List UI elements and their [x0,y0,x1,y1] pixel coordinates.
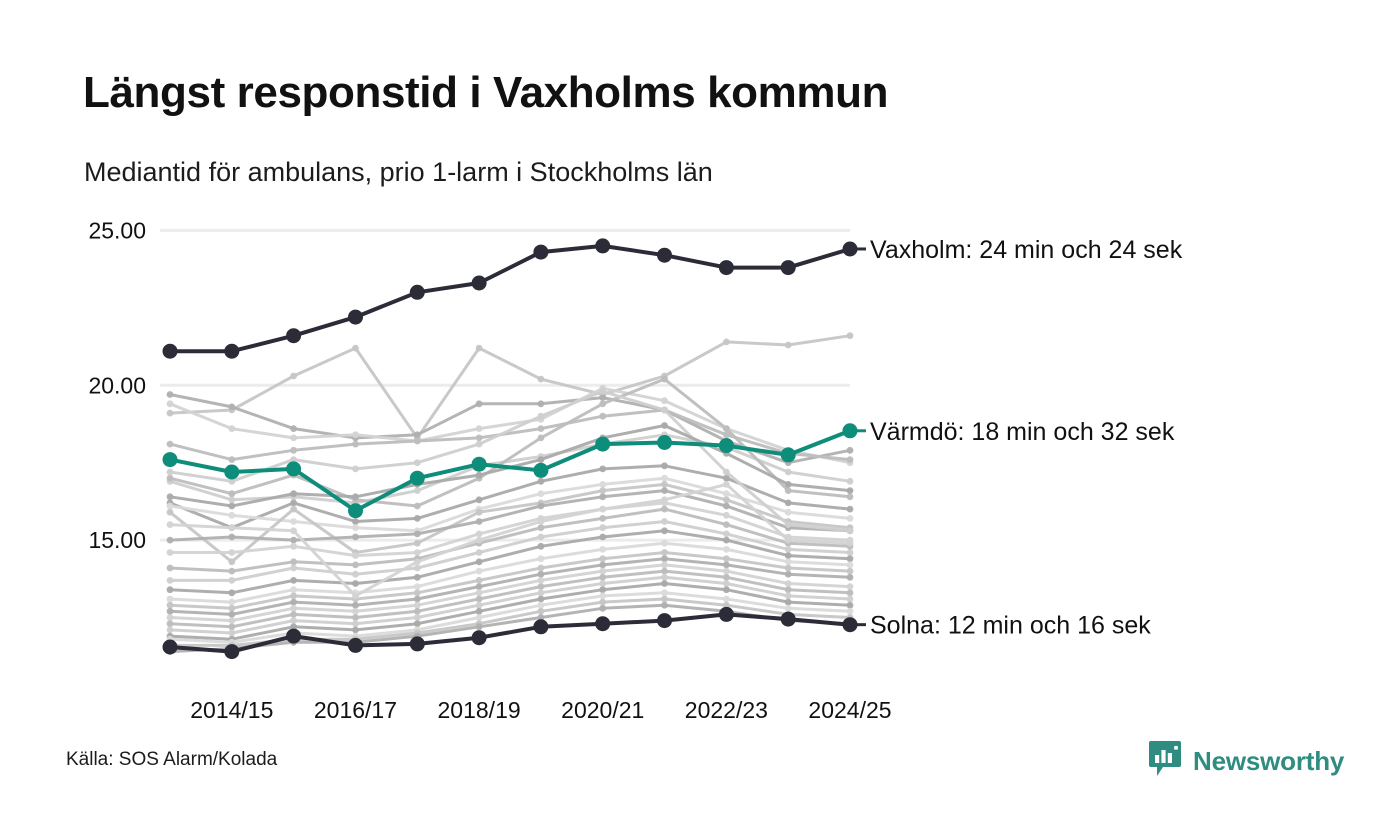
series-point [785,546,792,553]
series-point [476,623,483,630]
series-point [224,465,239,480]
series-point [538,555,545,562]
series-point [785,552,792,559]
series-point [847,608,854,615]
series-point [723,425,730,432]
series-point [410,471,425,486]
series-point [661,549,668,556]
series-point [476,608,483,615]
series-point [657,613,672,628]
annotation-label: Solna: 12 min och 16 sek [870,612,1151,640]
series-point [661,602,668,609]
series-point [785,481,792,488]
series-point [167,614,174,621]
series-point [847,515,854,522]
newsworthy-bubble-icon [1148,740,1182,783]
series-point [290,373,297,380]
series-point [352,431,359,438]
series-point [785,487,792,494]
series-point [661,407,668,414]
series-point [661,496,668,503]
series-point [290,593,297,600]
series-point [781,260,796,275]
series-point [167,509,174,516]
series-point [414,438,421,445]
series-point [167,441,174,448]
series-point [538,413,545,420]
series-point [661,518,668,525]
series-point [785,571,792,578]
series-point [538,608,545,615]
series-point [538,425,545,432]
annotation-label: Vaxholm: 24 min och 24 sek [870,236,1183,264]
series-point [847,568,854,575]
series-point [661,527,668,534]
series-point [290,611,297,618]
series-point [599,493,606,500]
series-point [290,518,297,525]
series-point [476,425,483,432]
series-point [228,456,235,463]
series-point [723,481,730,488]
series-point [847,555,854,562]
gridline-group [160,230,850,540]
series-point [167,577,174,584]
x-tick-label: 2022/23 [685,697,768,723]
series-point [847,487,854,494]
series-point [599,506,606,513]
series-point [414,602,421,609]
series-point [785,580,792,587]
series-point [290,558,297,565]
series-point [163,344,178,359]
series-point [476,472,483,479]
series-point [847,506,854,513]
series-point [723,574,730,581]
series-point [414,487,421,494]
series-point [723,339,730,346]
series-point [476,602,483,609]
series-point [476,531,483,538]
series-point [599,562,606,569]
series-point [847,562,854,569]
series-point [476,577,483,584]
series-point [286,328,301,343]
series-point [163,452,178,467]
series-point [224,344,239,359]
series-point [661,580,668,587]
series-point [785,605,792,612]
series-point [723,586,730,593]
series-point [352,562,359,569]
series-point [224,644,239,659]
series-point [352,614,359,621]
series-point [723,596,730,603]
series-point [290,447,297,454]
series-point [847,540,854,547]
series-point [228,496,235,503]
series-point [414,558,421,565]
series-point [533,619,548,634]
series-point [723,546,730,553]
series-point [352,466,359,473]
series-point [167,400,174,407]
x-tick-label: 2018/19 [438,697,521,723]
series-point [352,627,359,634]
series-point [228,617,235,624]
series-point [785,342,792,349]
series-point [599,400,606,407]
series-point [538,524,545,531]
series-point [290,577,297,584]
series-point [533,245,548,260]
series-point [414,583,421,590]
series-point [414,589,421,596]
series-point [476,614,483,621]
series-point [785,586,792,593]
series-point [723,512,730,519]
series-point [785,509,792,516]
annotation-label: Värmdö: 18 min och 32 sek [870,418,1175,446]
series-point [286,461,301,476]
series-point [352,493,359,500]
series-point [352,552,359,559]
series-point [228,611,235,618]
series-point [476,441,483,448]
series-point [847,583,854,590]
series-point [472,457,487,472]
series-point [538,518,545,525]
series-point [352,518,359,525]
series-point [599,555,606,562]
series-point [847,332,854,339]
series-point [228,524,235,531]
series-point [348,638,363,653]
series-point [352,620,359,627]
series-point [167,620,174,627]
series-point [538,571,545,578]
series-point [348,503,363,518]
series-point [723,537,730,544]
series-point [228,503,235,510]
series-point [414,614,421,621]
series-point [167,549,174,556]
series-point [348,310,363,325]
series-point [595,437,610,452]
series-point [228,490,235,497]
series-point [167,608,174,615]
series-point [472,630,487,645]
series-point [352,524,359,531]
series-point [538,435,545,442]
series-point [595,616,610,631]
series-point [228,577,235,584]
series-point [167,586,174,593]
series-point [476,589,483,596]
series-point [847,549,854,556]
series-point [167,521,174,528]
series-point [414,540,421,547]
series-point [476,400,483,407]
series-point [290,490,297,497]
chart-page: Längst responstid i Vaxholms kommun Medi… [0,0,1400,840]
series-point [599,574,606,581]
series-point [599,599,606,606]
series-point [290,506,297,513]
series-point [538,543,545,550]
series-point [538,400,545,407]
series-point [538,503,545,510]
series-point [723,580,730,587]
source-note: Källa: SOS Alarm/Kolada [66,749,277,771]
series-point [599,546,606,553]
series-point [414,574,421,581]
series-point [476,496,483,503]
y-tick-label: 20.00 [88,372,146,398]
series-point [538,490,545,497]
series-point [599,481,606,488]
series-point [538,596,545,603]
series-point [723,562,730,569]
series-point [352,571,359,578]
series-point [414,620,421,627]
series-point [599,394,606,401]
series-point [538,577,545,584]
background-series-group [167,332,854,655]
series-point [661,562,668,569]
series-point [847,478,854,485]
series-point [661,589,668,596]
series-point [781,447,796,462]
series-point [599,593,606,600]
series-point [414,608,421,615]
series-point [352,608,359,615]
series-point [228,549,235,556]
x-tick-label: 2014/15 [190,697,273,723]
series-point [414,431,421,438]
series-point [599,580,606,587]
series-point [167,565,174,572]
x-axis-tick-labels: 2014/152016/172018/192020/212022/232024/… [190,697,891,723]
series-point [599,413,606,420]
y-tick-label: 15.00 [88,527,146,553]
series-point [785,521,792,528]
series-point [476,537,483,544]
series-point [661,481,668,488]
series-point [661,376,668,383]
series-point [719,438,734,453]
series-point [599,487,606,494]
series-point [290,425,297,432]
series-point [167,537,174,544]
series-point [410,636,425,651]
series-point [290,527,297,534]
series-point [599,605,606,612]
series-point [538,456,545,463]
series-point [290,586,297,593]
series-point [414,549,421,556]
series-point [167,627,174,634]
series-point [167,602,174,609]
series-point [290,599,297,606]
series-point [352,534,359,541]
series-point [599,388,606,395]
series-point [352,580,359,587]
series-point [661,574,668,581]
series-point [228,599,235,606]
series-point [781,612,796,627]
series-point [352,593,359,600]
series-point [476,558,483,565]
series-point [228,558,235,565]
series-point [290,617,297,624]
series-point [290,543,297,550]
series-point [785,537,792,544]
series-point [228,534,235,541]
series-point [723,490,730,497]
series-point [661,555,668,562]
series-point [595,238,610,253]
series-point [661,596,668,603]
series-point [723,555,730,562]
series-point [286,629,301,644]
series-point [538,478,545,485]
series-point [847,527,854,534]
y-tick-label: 25.00 [88,217,146,243]
series-point [723,531,730,538]
series-point [657,435,672,450]
series-point [167,410,174,417]
x-tick-label: 2024/25 [808,697,891,723]
x-tick-label: 2016/17 [314,697,397,723]
series-point [657,248,672,263]
series-point [847,596,854,603]
series-point [599,568,606,575]
series-point [785,565,792,572]
series-point [723,521,730,528]
series-point [290,500,297,507]
series-point [661,475,668,482]
series-point [719,260,734,275]
series-point [167,493,174,500]
series-point [719,607,734,622]
series-point [533,463,548,478]
series-point [538,589,545,596]
series-point [414,515,421,522]
series-point [847,589,854,596]
series-point [661,422,668,429]
series-point [847,602,854,609]
series-point [661,462,668,469]
series-point [476,596,483,603]
series-point [167,596,174,603]
newsworthy-logo[interactable]: Newsworthy [1148,740,1344,783]
series-point [414,531,421,538]
series-point [414,565,421,572]
series-point [538,376,545,383]
series-point [228,623,235,630]
series-point [163,640,178,655]
y-axis-tick-labels: 15.0020.0025.00 [88,217,146,553]
series-point [290,537,297,544]
series-point [785,599,792,606]
series-point [723,568,730,575]
series-point [352,441,359,448]
series-point [785,593,792,600]
series-point [785,558,792,565]
series-point [476,583,483,590]
series-point [723,503,730,510]
series-point [414,503,421,510]
series-point [847,456,854,463]
series-point [414,596,421,603]
series-point [167,475,174,482]
series-point [352,345,359,352]
series-point [290,565,297,572]
series-point [476,509,483,516]
series-point [723,469,730,476]
series-point [228,589,235,596]
series-point [661,568,668,575]
series-point [538,565,545,572]
series-point [661,506,668,513]
series-point [476,435,483,442]
series-point [476,518,483,525]
series-point [476,549,483,556]
series-point [476,568,483,575]
series-point [167,391,174,398]
series-point [599,586,606,593]
series-point [785,500,792,507]
series-point [661,540,668,547]
series-annotation-group: Vaxholm: 24 min och 24 sekVärmdö: 18 min… [854,236,1183,640]
series-point [476,345,483,352]
series-point [538,534,545,541]
series-point [290,435,297,442]
series-point [410,285,425,300]
series-point [352,602,359,609]
series-point [599,534,606,541]
series-point [661,487,668,494]
series-point [538,583,545,590]
series-point [538,602,545,609]
series-point [290,605,297,612]
newsworthy-wordmark: Newsworthy [1193,746,1344,777]
series-point [228,404,235,411]
series-point [847,493,854,500]
series-point [228,512,235,519]
series-point [472,276,487,291]
series-point [599,524,606,531]
series-point [167,469,174,476]
x-tick-label: 2020/21 [561,697,644,723]
series-point [228,630,235,637]
series-point [847,574,854,581]
line-chart-canvas: 15.0020.0025.00 Vaxholm: 24 min och 24 s… [0,0,1400,840]
series-point [599,466,606,473]
series-point [723,496,730,503]
series-point [228,425,235,432]
series-point [785,469,792,476]
series-point [661,397,668,404]
series-point [847,447,854,454]
series-point [228,568,235,575]
series-point [228,605,235,612]
series-point [167,503,174,510]
series-point [599,515,606,522]
series-point [414,459,421,466]
series-line [170,246,850,351]
